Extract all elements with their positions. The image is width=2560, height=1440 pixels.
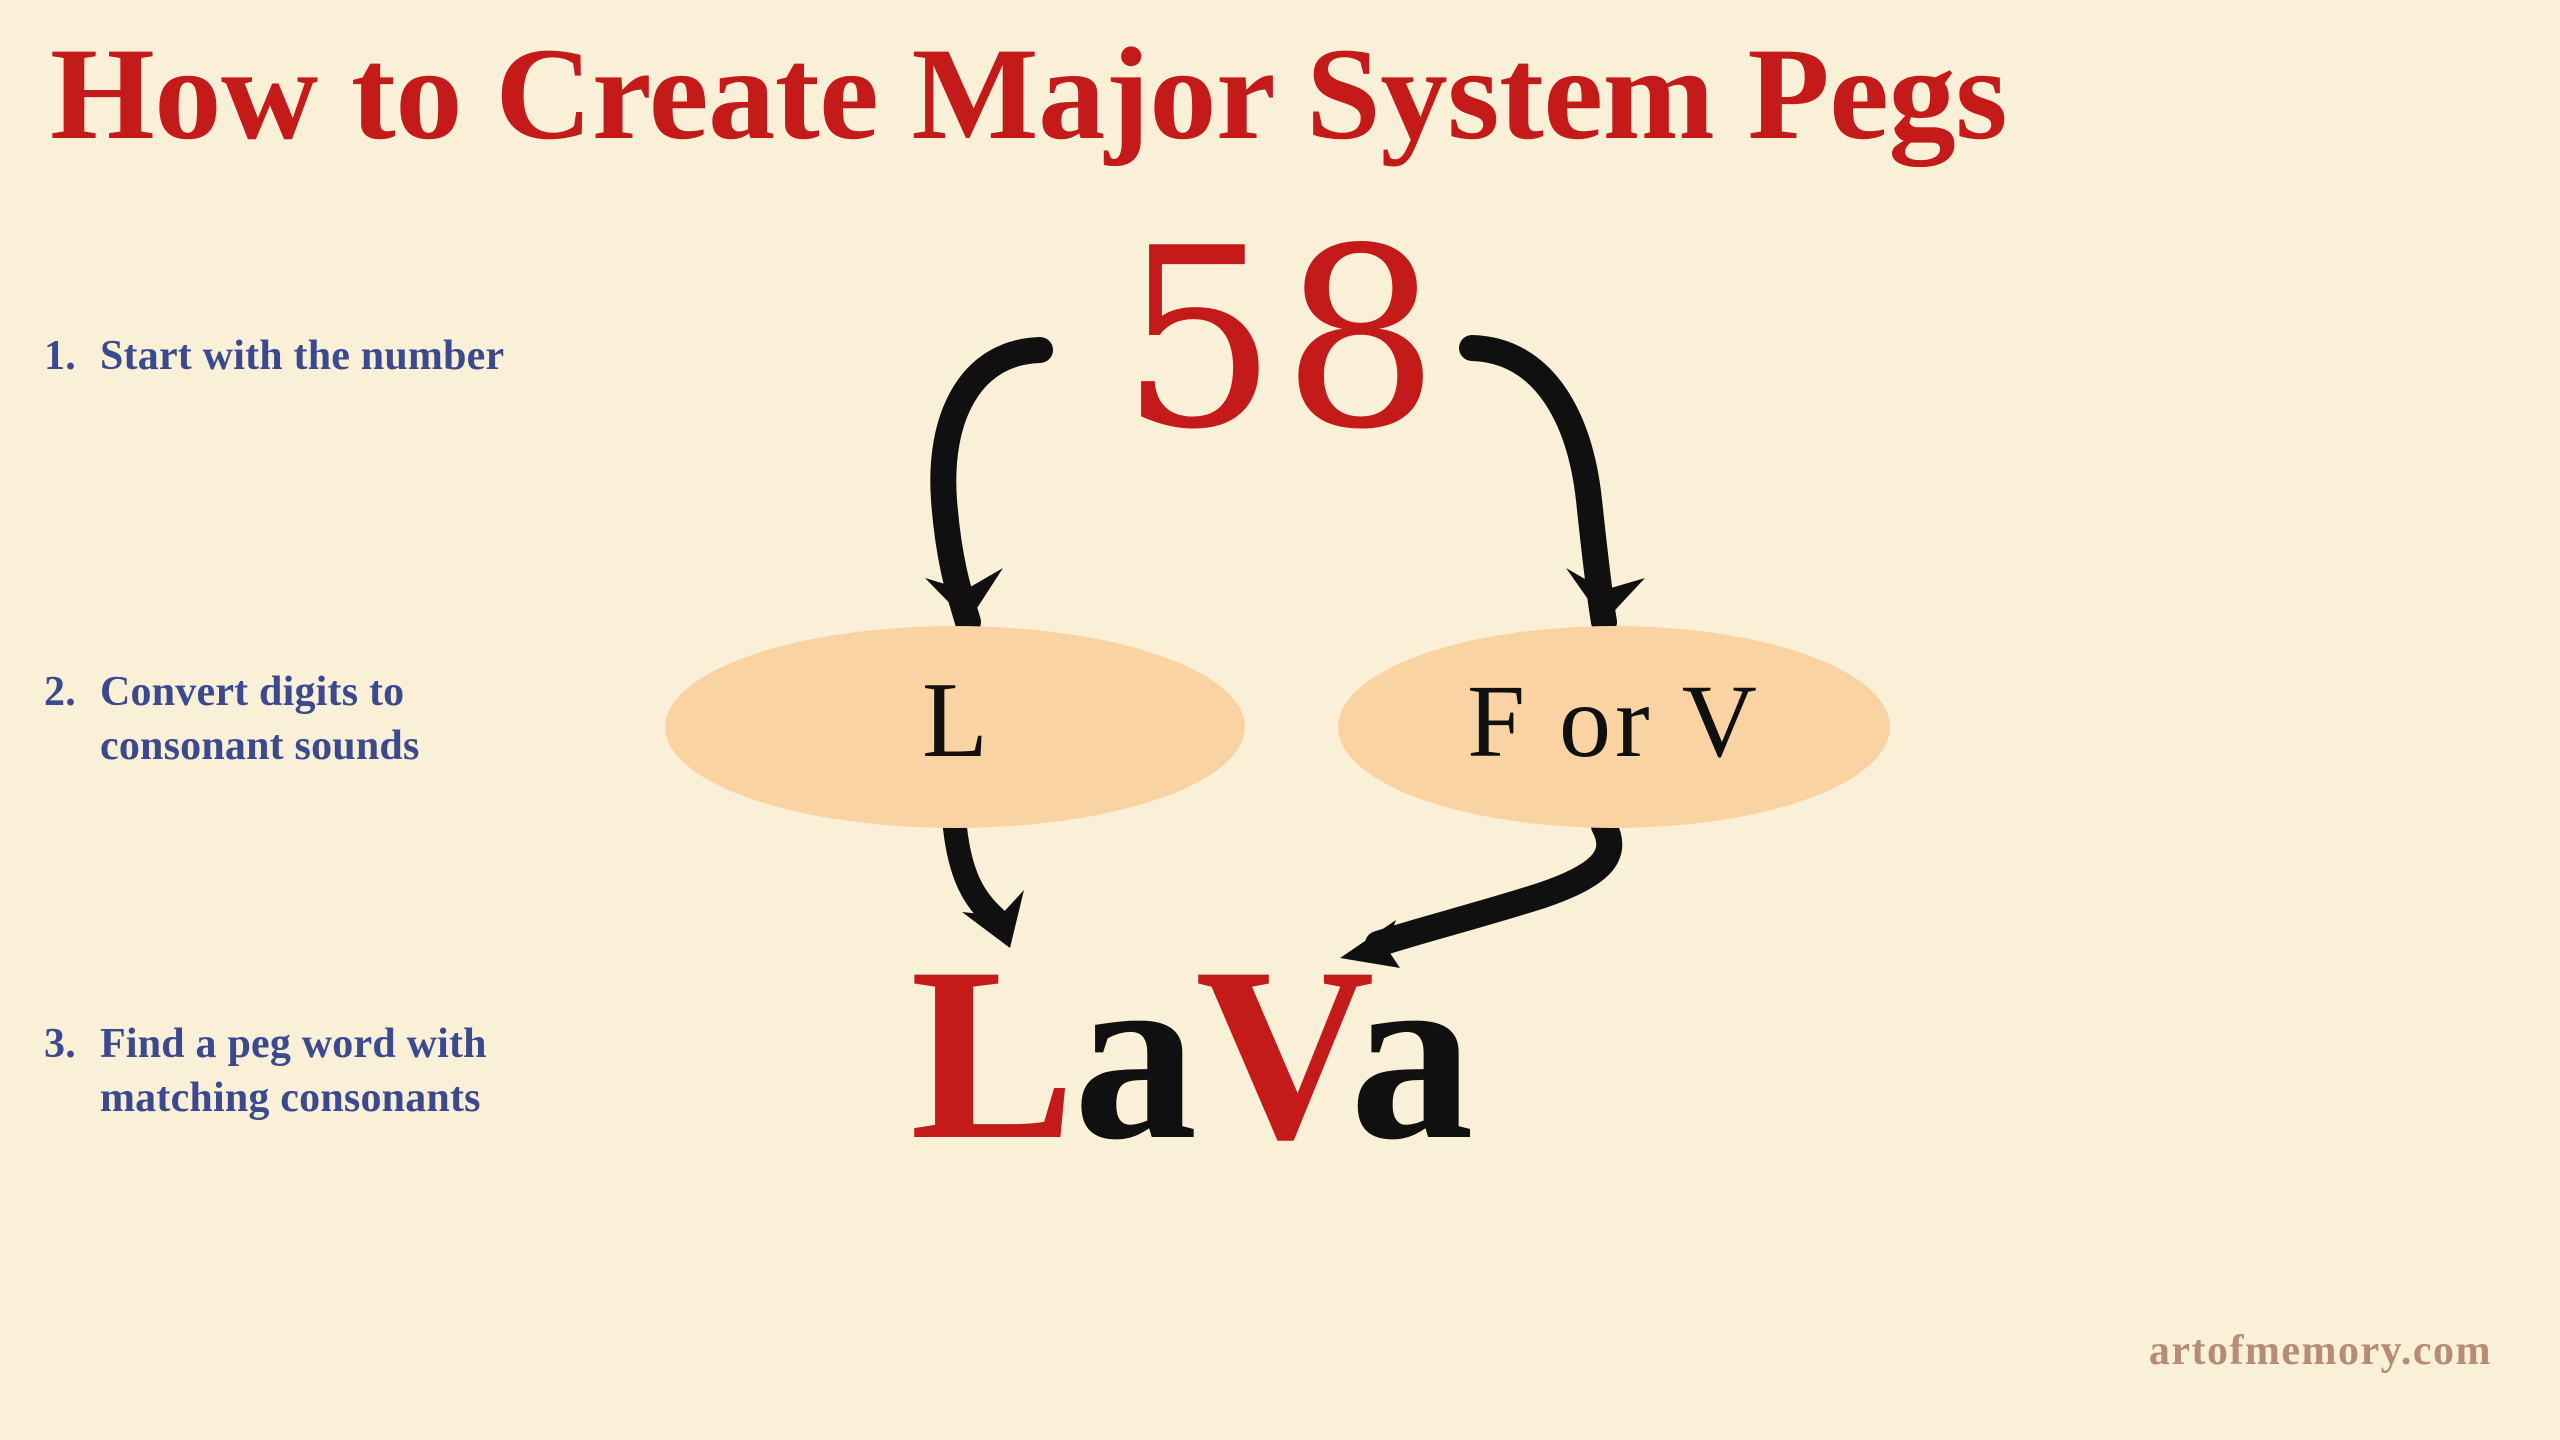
peg-word-char-4: a	[1350, 916, 1472, 1191]
sound-bubble-right: F or V	[1338, 626, 1890, 828]
step-2-line-2: consonant sounds	[100, 723, 420, 769]
sound-bubble-left: L	[665, 626, 1245, 828]
step-3-label: 3.Find a peg word withmatching consonant…	[44, 1018, 487, 1126]
step-3-line-1: Find a peg word with	[100, 1021, 487, 1067]
sound-right-label: F or V	[1467, 662, 1761, 781]
step-2-number: 2.	[44, 666, 100, 720]
peg-word-char-3: V	[1195, 916, 1349, 1191]
step-1-number: 1.	[44, 330, 100, 384]
step-3-number: 3.	[44, 1018, 100, 1072]
step-2-line-1: Convert digits to	[100, 669, 404, 715]
arrow-8-to-FV-icon	[1472, 348, 1645, 622]
step-1-label: 1.Start with the number	[44, 330, 504, 384]
source-number: 58	[1120, 216, 1444, 464]
infographic-canvas: How to Create Major System Pegs 1.Start …	[0, 0, 2560, 1440]
arrow-5-to-L-icon	[925, 350, 1040, 622]
step-1-text: Start with the number	[100, 330, 504, 384]
sound-left-label: L	[922, 659, 988, 783]
peg-word-char-2: a	[1073, 916, 1195, 1191]
step-3-line-2: matching consonants	[100, 1075, 481, 1121]
step-2-text: Convert digits toconsonant sounds	[100, 666, 420, 774]
step-3-text: Find a peg word withmatching consonants	[100, 1018, 487, 1126]
page-title: How to Create Major System Pegs	[50, 28, 2560, 160]
peg-word: LaVa	[910, 930, 1472, 1178]
step-2-label: 2.Convert digits toconsonant sounds	[44, 666, 420, 774]
site-credit: artofmemory.com	[2149, 1327, 2492, 1375]
peg-word-char-1: L	[910, 916, 1073, 1191]
